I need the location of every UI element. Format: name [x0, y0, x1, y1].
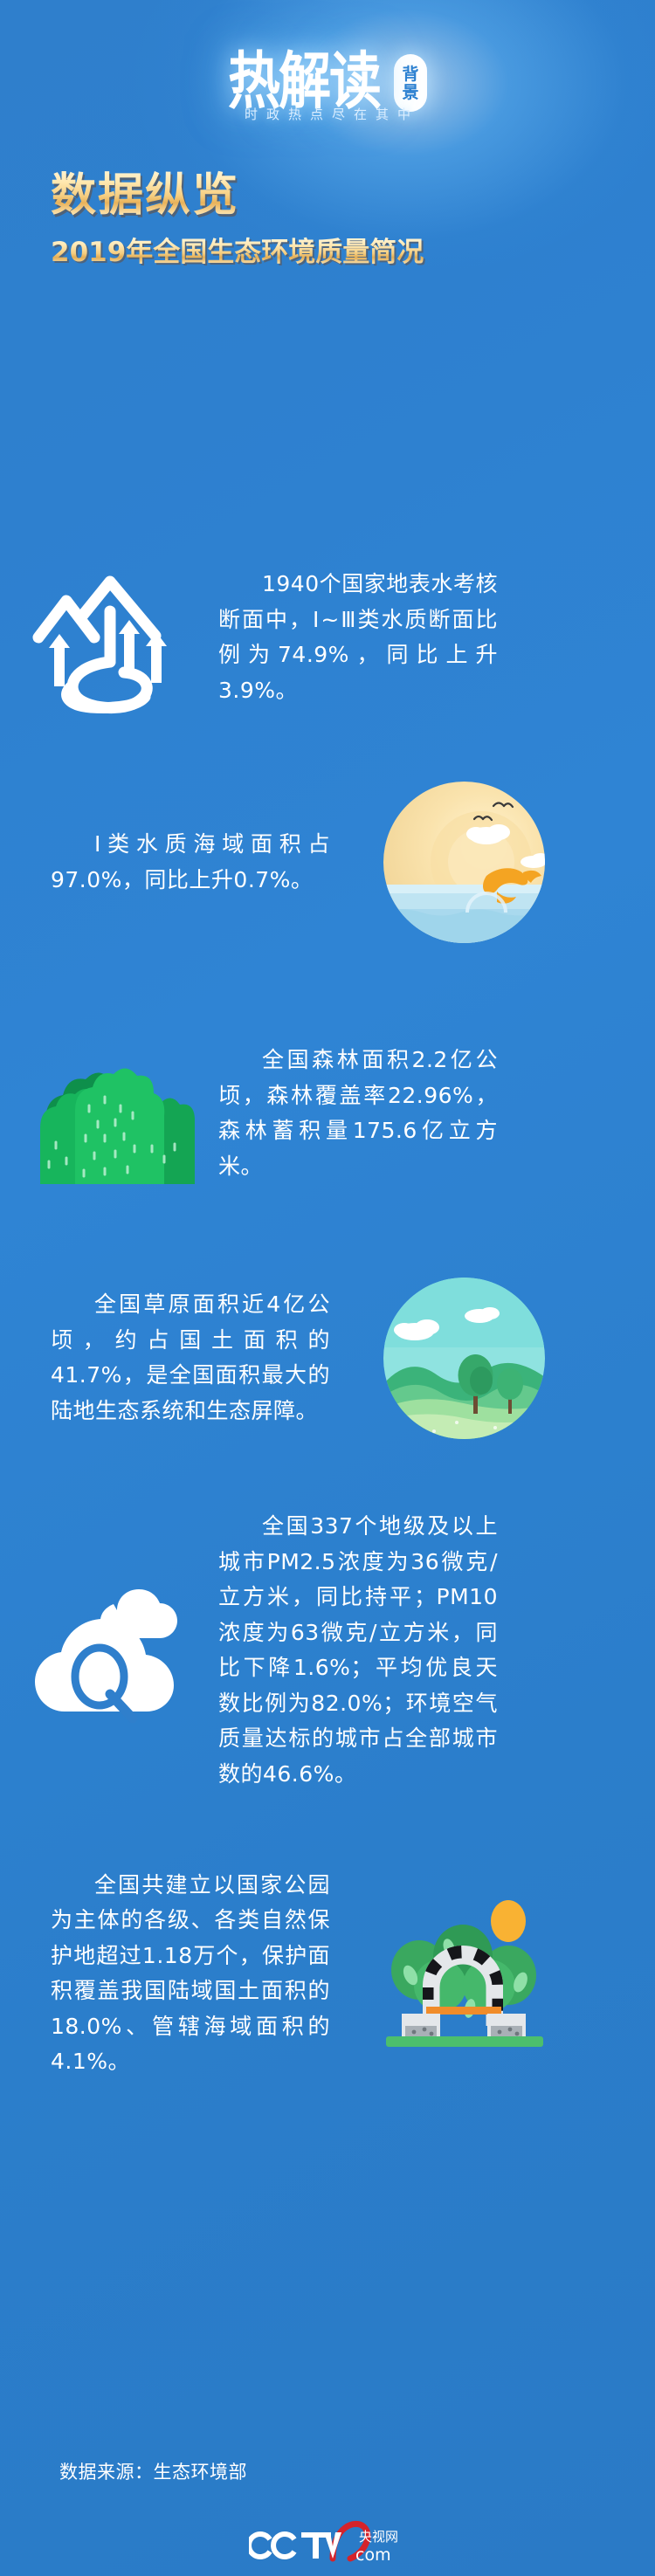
data-source-text: 数据来源：生态环境部 — [59, 2458, 247, 2484]
national-park-illustration — [355, 1895, 573, 2052]
page-title: 数据纵览 — [51, 170, 424, 223]
mountain-river-icon — [0, 550, 218, 725]
section-grassland-text: 全国草原面积近4亿公顷，约占国土面积的41.7%，是全国面积最大的陆地生态系统和… — [51, 1287, 330, 1429]
grassland-illustration — [355, 1278, 573, 1439]
svg-text:com: com — [355, 2545, 391, 2565]
section-protected-areas-text: 全国共建立以国家公园为主体的各级、各类自然保护地超过1.18万个，保护面积覆盖我… — [51, 1868, 330, 2080]
section-forest-text: 全国森林面积2.2亿公顷，森林覆盖率22.96%，森林蓄积量175.6亿立方米。 — [218, 1043, 498, 1184]
infographic-page: 热解读 背 景 时政热点尽在其中 数据纵览 2019年全国生态环境质量简况 — [0, 0, 655, 2576]
section-protected-areas: 全国共建立以国家公园为主体的各级、各类自然保护地超过1.18万个，保护面积覆盖我… — [0, 1851, 655, 2096]
title-block: 数据纵览 2019年全国生态环境质量简况 — [51, 170, 424, 269]
section-sea-water-text: Ⅰ类水质海域面积占97.0%，同比上升0.7%。 — [51, 827, 330, 898]
air-quality-cloud-icon — [0, 1579, 218, 1723]
header: 热解读 背 景 时政热点尽在其中 数据纵览 2019年全国生态环境质量简况 — [0, 0, 655, 288]
section-grassland: 全国草原面积近4亿公顷，约占国土面积的41.7%，是全国面积最大的陆地生态系统和… — [0, 1249, 655, 1467]
brand-badge-char-1: 背 — [402, 65, 418, 84]
section-surface-water-text: 1940个国家地表水考核断面中，Ⅰ~Ⅲ类水质断面比例为74.9%，同比上升3.9… — [218, 567, 498, 708]
brand-badge-char-2: 景 — [402, 84, 418, 102]
section-air-quality-text: 全国337个地级及以上城市PM2.5浓度为36微克/立方米，同比持平；PM10浓… — [218, 1509, 498, 1792]
svg-text:央视网: 央视网 — [359, 2529, 398, 2545]
brand-block: 热解读 背 景 — [0, 52, 655, 112]
section-forest: 全国森林面积2.2亿公顷，森林覆盖率22.96%，森林蓄积量175.6亿立方米。 — [0, 1004, 655, 1223]
section-air-quality: 全国337个地级及以上城市PM2.5浓度为36微克/立方米，同比持平；PM10浓… — [0, 1502, 655, 1799]
page-subtitle: 2019年全国生态环境质量简况 — [51, 237, 424, 269]
brand-logo: 热解读 背 景 — [228, 52, 427, 112]
ocean-dolphin-illustration — [355, 782, 573, 943]
cctv-logo: 央视网 com — [0, 2515, 655, 2566]
brand-tagline: 时政热点尽在其中 — [0, 105, 655, 123]
brand-badge: 背 景 — [394, 54, 427, 112]
section-sea-water: Ⅰ类水质海域面积占97.0%，同比上升0.7%。 — [0, 768, 655, 956]
brand-logo-text: 热解读 — [228, 52, 380, 114]
section-surface-water: 1940个国家地表水考核断面中，Ⅰ~Ⅲ类水质断面比例为74.9%，同比上升3.9… — [0, 537, 655, 738]
forest-trees-illustration — [0, 1037, 218, 1190]
